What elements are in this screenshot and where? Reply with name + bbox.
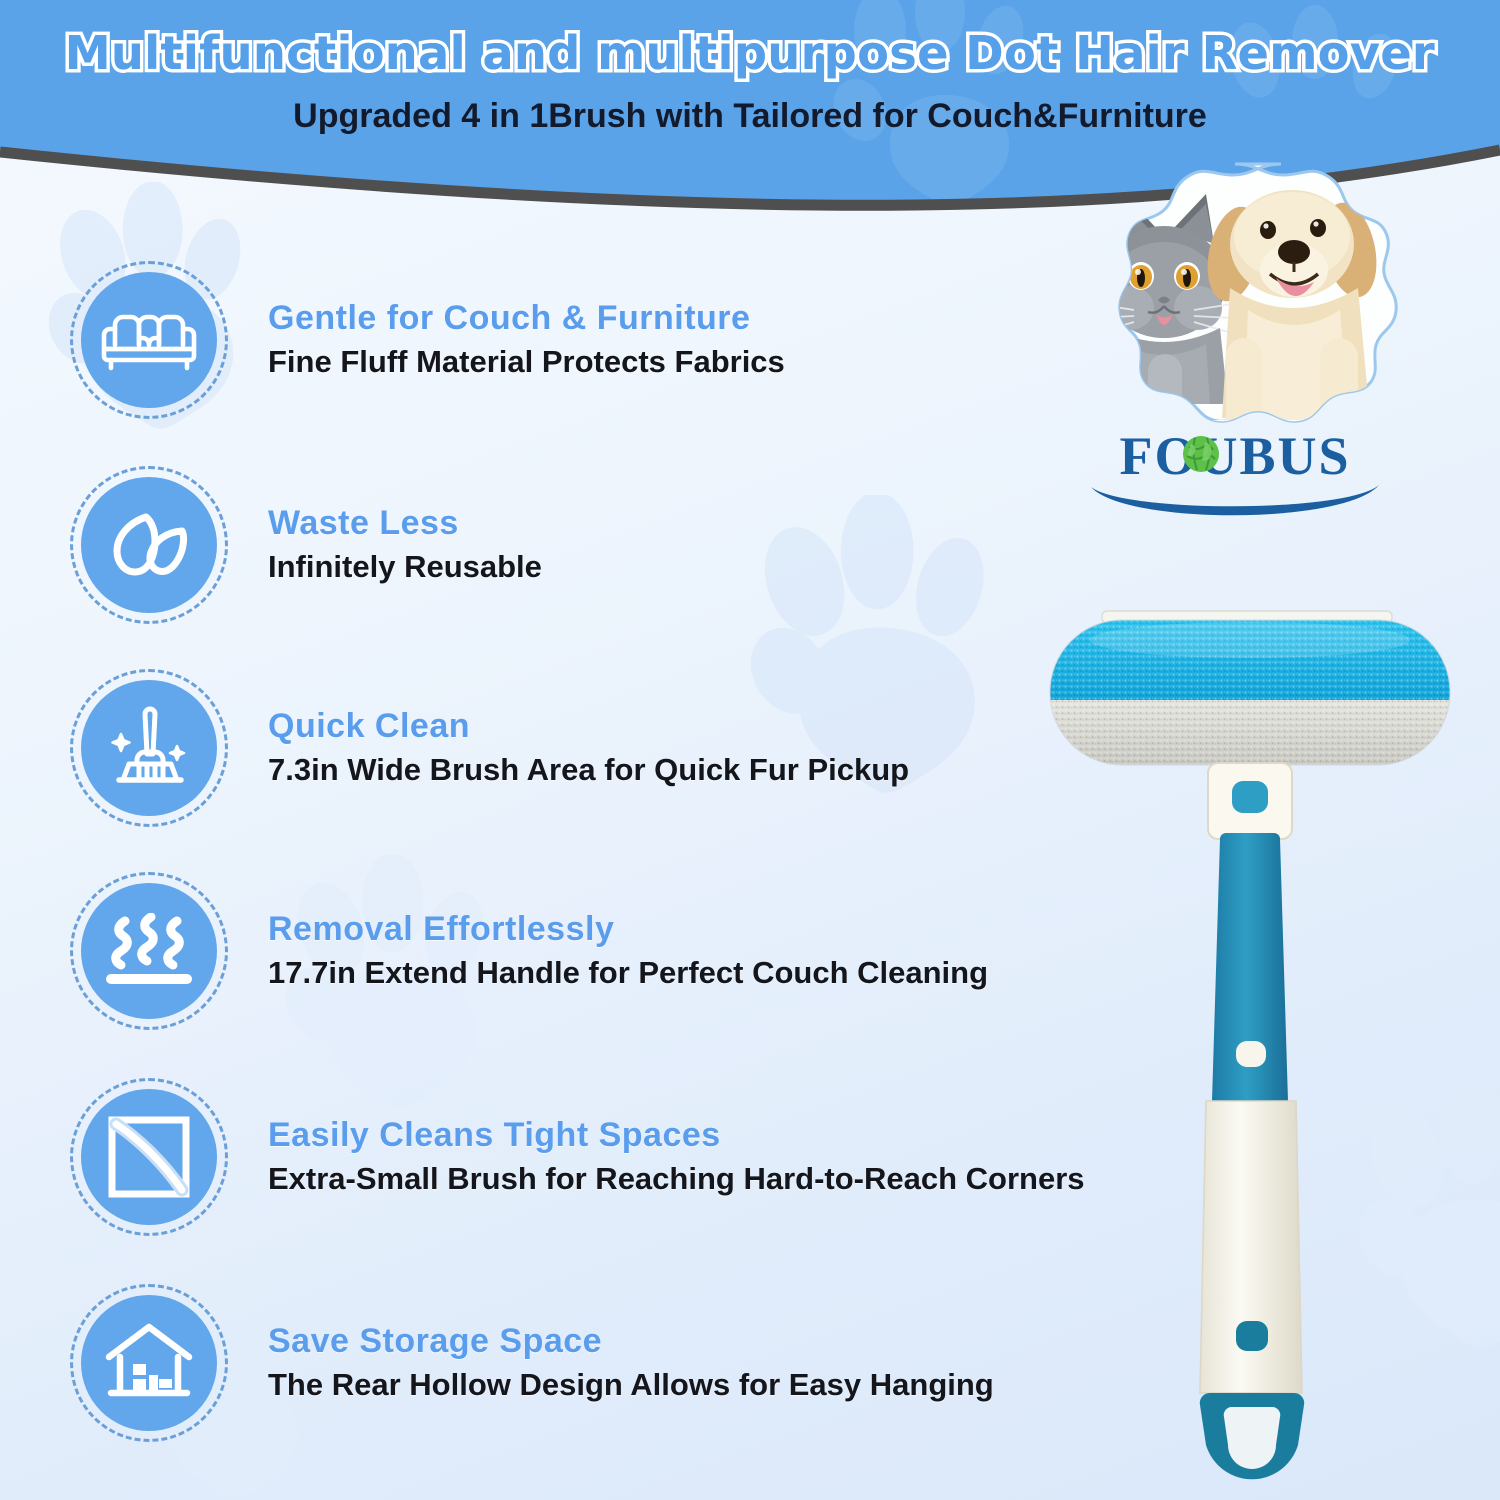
- feature-text: Save Storage Space The Rear Hollow Desig…: [268, 1321, 994, 1405]
- brand-logo: FOUBUS: [1030, 425, 1440, 532]
- feature-item-gentle-for-couch[interactable]: Gentle for Couch & Furniture Fine Fluff …: [70, 255, 1020, 425]
- feature-subtitle: 17.7in Extend Handle for Perfect Couch C…: [268, 953, 988, 993]
- feature-item-quick-clean[interactable]: Quick Clean 7.3in Wide Brush Area for Qu…: [70, 663, 1020, 833]
- feature-subtitle: 7.3in Wide Brush Area for Quick Fur Pick…: [268, 750, 909, 790]
- feature-icon-badge: [70, 1078, 228, 1236]
- green-globe-icon: [1181, 434, 1221, 474]
- corner-square-icon: [81, 1089, 217, 1225]
- pet-hair-remover-brush: [1040, 595, 1470, 1495]
- brush-illustration: [1040, 595, 1470, 1495]
- feature-title: Quick Clean: [268, 706, 909, 746]
- feature-icon-badge: [70, 466, 228, 624]
- feature-subtitle: The Rear Hollow Design Allows for Easy H…: [268, 1365, 994, 1405]
- feature-icon-badge: [70, 1284, 228, 1442]
- pet-photo-badge: FOUBUS: [1030, 158, 1440, 558]
- brand-name: FOUBUS: [1119, 425, 1350, 487]
- feature-item-save-storage[interactable]: Save Storage Space The Rear Hollow Desig…: [70, 1278, 1020, 1448]
- feature-icon-badge: [70, 261, 228, 419]
- feature-text: Waste Less Infinitely Reusable: [268, 503, 542, 587]
- brand-swoosh: [1085, 481, 1385, 527]
- feature-title: Gentle for Couch & Furniture: [268, 298, 785, 338]
- feature-list: Gentle for Couch & Furniture Fine Fluff …: [0, 0, 1020, 1500]
- feature-text: Gentle for Couch & Furniture Fine Fluff …: [268, 298, 785, 382]
- gray-cat-photo: [1090, 194, 1232, 422]
- sofa-icon: [81, 272, 217, 408]
- feature-title: Easily Cleans Tight Spaces: [268, 1115, 1085, 1155]
- feature-icon-badge: [70, 669, 228, 827]
- feature-item-tight-spaces[interactable]: Easily Cleans Tight Spaces Extra-Small B…: [70, 1072, 1020, 1242]
- feature-text: Removal Effortlessly 17.7in Extend Handl…: [268, 909, 988, 993]
- golden-retriever-puppy-photo: [1200, 190, 1385, 448]
- feature-icon-badge: [70, 872, 228, 1030]
- house-icon: [81, 1295, 217, 1431]
- steam-waves-icon: [81, 883, 217, 1019]
- feature-title: Save Storage Space: [268, 1321, 994, 1361]
- feature-text: Easily Cleans Tight Spaces Extra-Small B…: [268, 1115, 1085, 1199]
- feature-subtitle: Extra-Small Brush for Reaching Hard-to-R…: [268, 1159, 1085, 1199]
- feature-text: Quick Clean 7.3in Wide Brush Area for Qu…: [268, 706, 909, 790]
- feature-title: Waste Less: [268, 503, 542, 543]
- feature-title: Removal Effortlessly: [268, 909, 988, 949]
- brand-name-text: FOUBUS: [1119, 426, 1350, 486]
- feature-item-waste-less[interactable]: Waste Less Infinitely Reusable: [70, 460, 1020, 630]
- feature-subtitle: Infinitely Reusable: [268, 547, 542, 587]
- broom-sparkle-icon: [81, 680, 217, 816]
- leaves-icon: [81, 477, 217, 613]
- feature-subtitle: Fine Fluff Material Protects Fabrics: [268, 342, 785, 382]
- feature-item-removal-effortlessly[interactable]: Removal Effortlessly 17.7in Extend Handl…: [70, 866, 1020, 1036]
- infographic-page: Multifunctional and multipurpose Dot Hai…: [0, 0, 1500, 1500]
